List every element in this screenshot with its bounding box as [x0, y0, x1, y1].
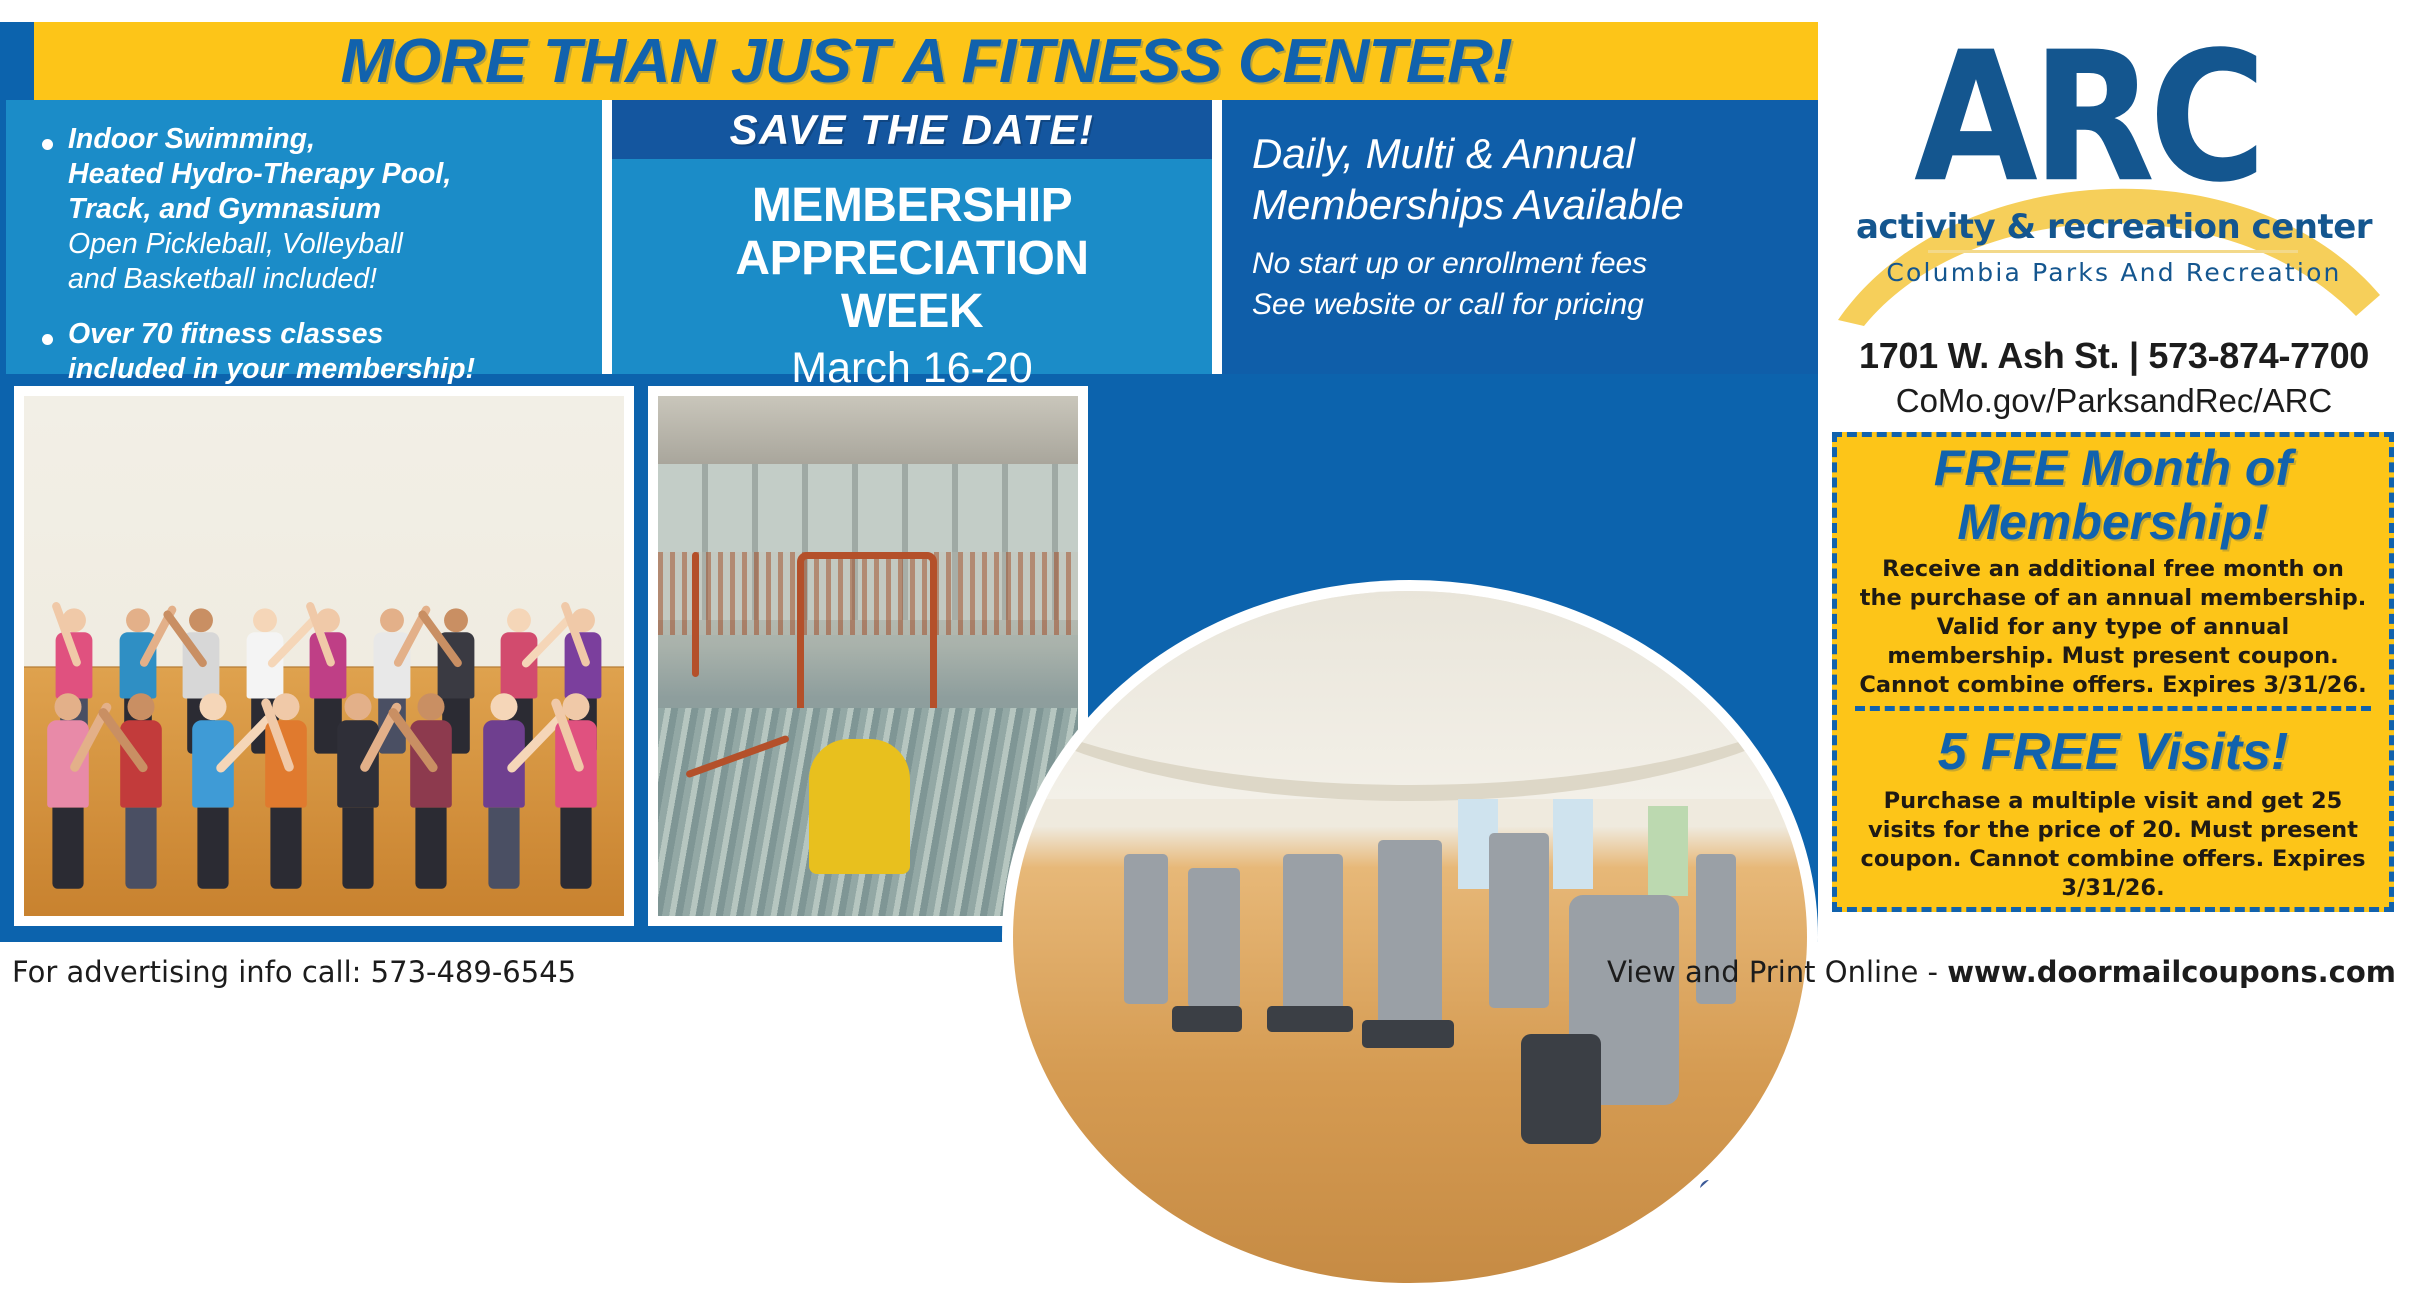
save-the-date-label: SAVE THE DATE!: [730, 106, 1095, 154]
coupon-title-line-1: FREE Month of: [1859, 441, 2367, 495]
participant-legs: [270, 807, 301, 888]
participant-head: [417, 693, 444, 720]
headline-banner: MORE THAN JUST A FITNESS CENTER!: [34, 22, 1818, 100]
class-participant: [192, 693, 234, 889]
pool-yellow-slide: [809, 739, 910, 874]
participant-torso: [338, 720, 380, 807]
coupon-block: FREE Month of Membership! Receive an add…: [1832, 432, 2394, 912]
gym-machine: [1124, 854, 1168, 1004]
class-participant: [410, 693, 452, 889]
participant-torso: [246, 632, 283, 698]
participant-head: [563, 693, 590, 720]
coupon-free-month[interactable]: FREE Month of Membership! Receive an add…: [1837, 437, 2389, 700]
advertisement-flyer: MORE THAN JUST A FITNESS CENTER! Indoor …: [0, 0, 2410, 1015]
class-participant: [555, 693, 597, 889]
event-title-line-1: MEMBERSHIP: [612, 179, 1212, 232]
photo-row: f: [0, 374, 1818, 942]
fitness-floor-photo: [1013, 591, 1807, 1283]
participant-legs: [343, 807, 374, 888]
address-phone: 1701 W. Ash St. | 573-874-7700: [1818, 335, 2410, 377]
participant-head: [189, 608, 213, 632]
info-panels-row: Indoor Swimming, Heated Hydro-Therapy Po…: [0, 100, 1818, 374]
participant-head: [200, 693, 227, 720]
memberships-note-1: No start up or enrollment fees: [1252, 230, 1798, 283]
fitness-floor-photo-frame: f: [1002, 580, 1818, 1294]
participant-legs: [415, 807, 446, 888]
feature-strong-text: Indoor Swimming, Heated Hydro-Therapy Po…: [68, 122, 584, 227]
coupon-free-visits[interactable]: 5 FREE Visits! Purchase a multiple visit…: [1837, 719, 2389, 903]
group-fitness-photo-frame: [14, 386, 634, 926]
coupon-divider: [1855, 706, 2371, 711]
participant-head: [127, 693, 154, 720]
participant-head: [345, 693, 372, 720]
list-item: Indoor Swimming, Heated Hydro-Therapy Po…: [32, 122, 584, 297]
participant-head: [507, 608, 531, 632]
coupon-title-line-2: Membership!: [1859, 495, 2367, 549]
panel-divider: [602, 100, 612, 374]
memberships-note-2: See website or call for pricing: [1252, 283, 1798, 324]
facebook-icon[interactable]: f: [1700, 1180, 1756, 1236]
arc-logo: ARC activity & recreation center Columbi…: [1818, 0, 2410, 270]
participant-head: [272, 693, 299, 720]
footer-online-prefix: View and Print Online -: [1607, 955, 1947, 989]
memberships-panel: Daily, Multi & Annual Memberships Availa…: [1222, 100, 1818, 374]
fitness-floor-photo-wrap: f: [1002, 580, 1818, 1294]
save-the-date-banner: SAVE THE DATE!: [612, 100, 1212, 159]
class-participant: [483, 693, 525, 889]
facebook-glyph: f: [1721, 1186, 1736, 1230]
participant-head: [490, 693, 517, 720]
participant-legs: [52, 807, 83, 888]
pool-ceiling: [658, 396, 1078, 464]
gym-machine-seat: [1267, 1006, 1353, 1032]
features-panel: Indoor Swimming, Heated Hydro-Therapy Po…: [6, 100, 602, 374]
coupon-title-line-1: 5 FREE Visits!: [1859, 723, 2367, 781]
gym-machine-seat: [1521, 1034, 1601, 1144]
participant-legs: [125, 807, 156, 888]
participant-head: [126, 608, 150, 632]
arc-logo-subtitle: activity & recreation center: [1818, 207, 2410, 247]
event-title-line-2: APPRECIATION: [612, 232, 1212, 285]
participant-torso: [47, 720, 89, 807]
gym-machine-seat: [1362, 1020, 1454, 1048]
gym-machine-seat: [1172, 1006, 1242, 1032]
gym-machine: [1283, 854, 1343, 1024]
participant-legs: [488, 807, 519, 888]
right-column: ARC activity & recreation center Columbi…: [1818, 0, 2410, 942]
panel-divider: [1212, 100, 1222, 374]
gym-machine: [1489, 833, 1549, 1008]
main-blue-card: MORE THAN JUST A FITNESS CENTER! Indoor …: [0, 22, 1818, 942]
save-the-date-panel: SAVE THE DATE! MEMBERSHIP APPRECIATION W…: [612, 100, 1212, 374]
participant-head: [54, 693, 81, 720]
gym-window: [1648, 806, 1688, 896]
website-url: CoMo.gov/ParksandRec/ARC: [1818, 382, 2410, 420]
memberships-headline-line-2: Memberships Available: [1252, 179, 1798, 230]
arc-logo-mark: ARC: [1914, 28, 2384, 207]
class-participant: [265, 693, 307, 889]
pool-post: [692, 552, 699, 677]
participant-head: [253, 608, 277, 632]
gym-window: [1553, 799, 1593, 889]
participant-head: [380, 608, 404, 632]
logo-underline: [1928, 250, 2298, 253]
class-participant: [47, 693, 89, 889]
coupon-terms: Purchase a multiple visit and get 25 vis…: [1859, 781, 2367, 903]
headline-text: MORE THAN JUST A FITNESS CENTER!: [340, 26, 1511, 97]
class-participant: [338, 693, 380, 889]
coupon-terms: Receive an additional free month on the …: [1859, 549, 2367, 700]
event-details: MEMBERSHIP APPRECIATION WEEK March 16-20: [612, 159, 1212, 394]
group-fitness-photo: [24, 396, 624, 916]
class-participant: [120, 693, 162, 889]
participant-legs: [561, 807, 592, 888]
gym-machine: [1188, 868, 1240, 1008]
footer-online-info: View and Print Online - www.doormailcoup…: [1607, 955, 2396, 989]
participant-head: [444, 608, 468, 632]
footer-online-url[interactable]: www.doormailcoupons.com: [1947, 955, 2396, 989]
participant-torso: [501, 632, 538, 698]
footer-advertising-info: For advertising info call: 573-489-6545: [12, 955, 576, 989]
participant-legs: [198, 807, 229, 888]
event-title-line-3: WEEK: [612, 285, 1212, 338]
gym-machine: [1378, 840, 1442, 1025]
memberships-headline-line-1: Daily, Multi & Annual: [1252, 128, 1798, 179]
feature-light-text: Open Pickleball, Volleyball and Basketba…: [68, 227, 584, 297]
department-label: Columbia Parks And Recreation: [1818, 258, 2410, 287]
